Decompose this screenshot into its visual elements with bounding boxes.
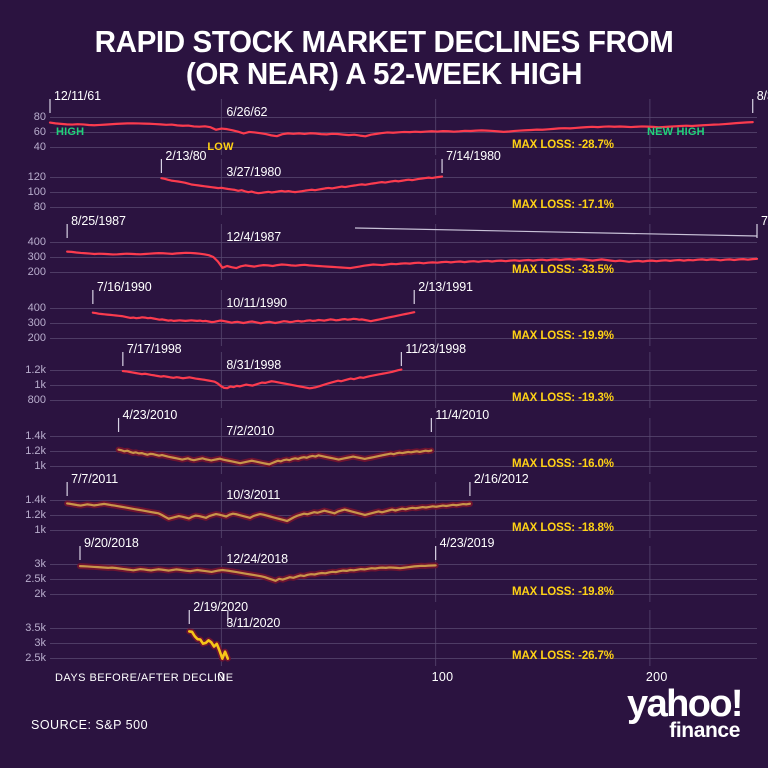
start-date-label: 7/7/2011 bbox=[71, 472, 118, 486]
series-line bbox=[161, 177, 442, 194]
page-title: RAPID STOCK MARKET DECLINES FROM (OR NEA… bbox=[0, 27, 768, 90]
panel-plot bbox=[0, 224, 768, 280]
max-loss-label: MAX LOSS: -19.8% bbox=[512, 586, 614, 598]
y-axis-tick-label: 100 bbox=[2, 186, 46, 198]
y-axis-tick-label: 60 bbox=[2, 126, 46, 138]
y-axis-tick-label: 1k bbox=[2, 460, 46, 472]
panel-plot bbox=[0, 546, 768, 602]
panel-plot bbox=[0, 352, 768, 408]
chart-panel: 3.5k3k2.5k2/19/20203/11/2020MAX LOSS: -2… bbox=[0, 610, 768, 666]
low-date-label: 12/4/1987 bbox=[226, 230, 281, 244]
y-axis-tick-label: 2.5k bbox=[2, 652, 46, 664]
start-date-label: 9/20/2018 bbox=[84, 536, 139, 550]
x-axis-tick-label: 200 bbox=[646, 670, 668, 684]
low-date-label: 6/26/62 bbox=[226, 105, 267, 119]
chart-panel: 80604012/11/616/26/628/31/63MAX LOSS: -2… bbox=[0, 99, 768, 155]
low-date-label: 8/31/1998 bbox=[226, 358, 281, 372]
end-date-label: 2/16/2012 bbox=[474, 472, 529, 486]
end-date-label: 11/23/1998 bbox=[405, 342, 466, 356]
y-axis-tick-label: 1.4k bbox=[2, 430, 46, 442]
chart-panel: 1.4k1.2k1k7/7/201110/3/20112/16/2012MAX … bbox=[0, 482, 768, 538]
y-axis-tick-label: 1.2k bbox=[2, 445, 46, 457]
title-line-1: RAPID STOCK MARKET DECLINES FROM bbox=[12, 27, 757, 59]
low-date-label: 7/2/2010 bbox=[226, 424, 274, 438]
low-date-label: 3/11/2020 bbox=[226, 616, 280, 630]
max-loss-label: MAX LOSS: -28.7% bbox=[512, 139, 614, 151]
yahoo-finance-logo: yahoo! finance bbox=[627, 688, 742, 740]
x-axis-title: DAYS BEFORE/AFTER DECLINE bbox=[55, 672, 234, 684]
y-axis-tick-label: 3.5k bbox=[2, 622, 46, 634]
y-axis-tick-label: 40 bbox=[2, 141, 46, 153]
y-axis-tick-label: 1k bbox=[2, 524, 46, 536]
infographic-root: RAPID STOCK MARKET DECLINES FROM (OR NEA… bbox=[0, 0, 768, 768]
chart-panel: 3k2.5k2k9/20/201812/24/20184/23/2019MAX … bbox=[0, 546, 768, 602]
y-axis-tick-label: 300 bbox=[2, 317, 46, 329]
y-axis-tick-label: 800 bbox=[2, 394, 46, 406]
max-loss-label: MAX LOSS: -33.5% bbox=[512, 264, 614, 276]
max-loss-label: MAX LOSS: -26.7% bbox=[512, 650, 614, 662]
y-axis-tick-label: 2k bbox=[2, 588, 46, 600]
max-loss-label: MAX LOSS: -18.8% bbox=[512, 522, 614, 534]
start-date-label: 7/16/1990 bbox=[97, 280, 152, 294]
y-axis-tick-label: 120 bbox=[2, 171, 46, 183]
title-line-2: (OR NEAR) A 52-WEEK HIGH bbox=[12, 59, 757, 91]
panel-plot bbox=[0, 482, 768, 538]
y-axis-tick-label: 200 bbox=[2, 266, 46, 278]
start-date-label: 2/13/80 bbox=[165, 149, 206, 163]
y-axis-tick-label: 80 bbox=[2, 111, 46, 123]
end-date-label: 4/23/2019 bbox=[440, 536, 495, 550]
low-tag-label: LOW bbox=[207, 141, 233, 153]
start-date-label: 2/19/2020 bbox=[193, 600, 248, 614]
chart-panel: 1.4k1.2k1k4/23/20107/2/201011/4/2010MAX … bbox=[0, 418, 768, 474]
end-date-label: 2/13/1991 bbox=[418, 280, 473, 294]
series-glow bbox=[67, 503, 470, 521]
y-axis-tick-label: 2.5k bbox=[2, 573, 46, 585]
low-date-label: 10/3/2011 bbox=[226, 488, 280, 502]
max-loss-label: MAX LOSS: -17.1% bbox=[512, 199, 614, 211]
annotation-leader-line bbox=[355, 228, 757, 236]
y-axis-tick-label: 80 bbox=[2, 201, 46, 213]
y-axis-tick-label: 200 bbox=[2, 332, 46, 344]
chart-panel: 1.2k1k8007/17/19988/31/199811/23/1998MAX… bbox=[0, 352, 768, 408]
panel-plot bbox=[0, 290, 768, 346]
max-loss-label: MAX LOSS: -19.3% bbox=[512, 392, 614, 404]
new-high-tag-label: NEW HIGH bbox=[647, 126, 705, 138]
x-axis-tick-label: 0 bbox=[217, 670, 224, 684]
chart-panel: 120100802/13/803/27/19807/14/1980MAX LOS… bbox=[0, 159, 768, 215]
chart-panel: 4003002007/16/199010/11/19902/13/1991MAX… bbox=[0, 290, 768, 346]
start-date-label: 8/25/1987 bbox=[71, 214, 126, 228]
x-axis-tick-label: 100 bbox=[432, 670, 454, 684]
panel-plot bbox=[0, 418, 768, 474]
max-loss-label: MAX LOSS: -16.0% bbox=[512, 458, 614, 470]
y-axis-tick-label: 1.2k bbox=[2, 509, 46, 521]
low-date-label: 12/24/2018 bbox=[226, 552, 288, 566]
source-note: SOURCE: S&P 500 bbox=[31, 718, 148, 732]
low-date-label: 10/11/1990 bbox=[226, 296, 287, 310]
series-line bbox=[93, 312, 414, 323]
y-axis-tick-label: 400 bbox=[2, 302, 46, 314]
end-date-label: 7/14/1980 bbox=[446, 149, 501, 163]
end-date-label: 7/26/1989 bbox=[761, 214, 768, 228]
start-date-label: 4/23/2010 bbox=[123, 408, 178, 422]
y-axis-tick-label: 300 bbox=[2, 251, 46, 263]
series-line bbox=[67, 252, 757, 269]
end-date-label: 8/31/63 bbox=[757, 89, 768, 103]
max-loss-label: MAX LOSS: -19.9% bbox=[512, 330, 614, 342]
logo-yahoo-text: yahoo! bbox=[627, 688, 742, 721]
start-date-label: 7/17/1998 bbox=[127, 342, 182, 356]
y-axis-tick-label: 400 bbox=[2, 236, 46, 248]
panel-plot bbox=[0, 159, 768, 215]
chart-panel-stack: 80604012/11/616/26/628/31/63MAX LOSS: -2… bbox=[0, 96, 768, 672]
panel-plot bbox=[0, 610, 768, 666]
y-axis-tick-label: 1.4k bbox=[2, 494, 46, 506]
series-line bbox=[189, 631, 228, 658]
high-tag-label: HIGH bbox=[56, 126, 84, 138]
start-date-label: 12/11/61 bbox=[54, 89, 101, 103]
y-axis-tick-label: 1k bbox=[2, 379, 46, 391]
y-axis-tick-label: 3k bbox=[2, 637, 46, 649]
low-date-label: 3/27/1980 bbox=[226, 165, 281, 179]
end-date-label: 11/4/2010 bbox=[435, 408, 489, 422]
chart-panel: 4003002008/25/198712/4/19877/26/1989MAX … bbox=[0, 224, 768, 280]
y-axis-tick-label: 1.2k bbox=[2, 364, 46, 376]
y-axis-tick-label: 3k bbox=[2, 558, 46, 570]
